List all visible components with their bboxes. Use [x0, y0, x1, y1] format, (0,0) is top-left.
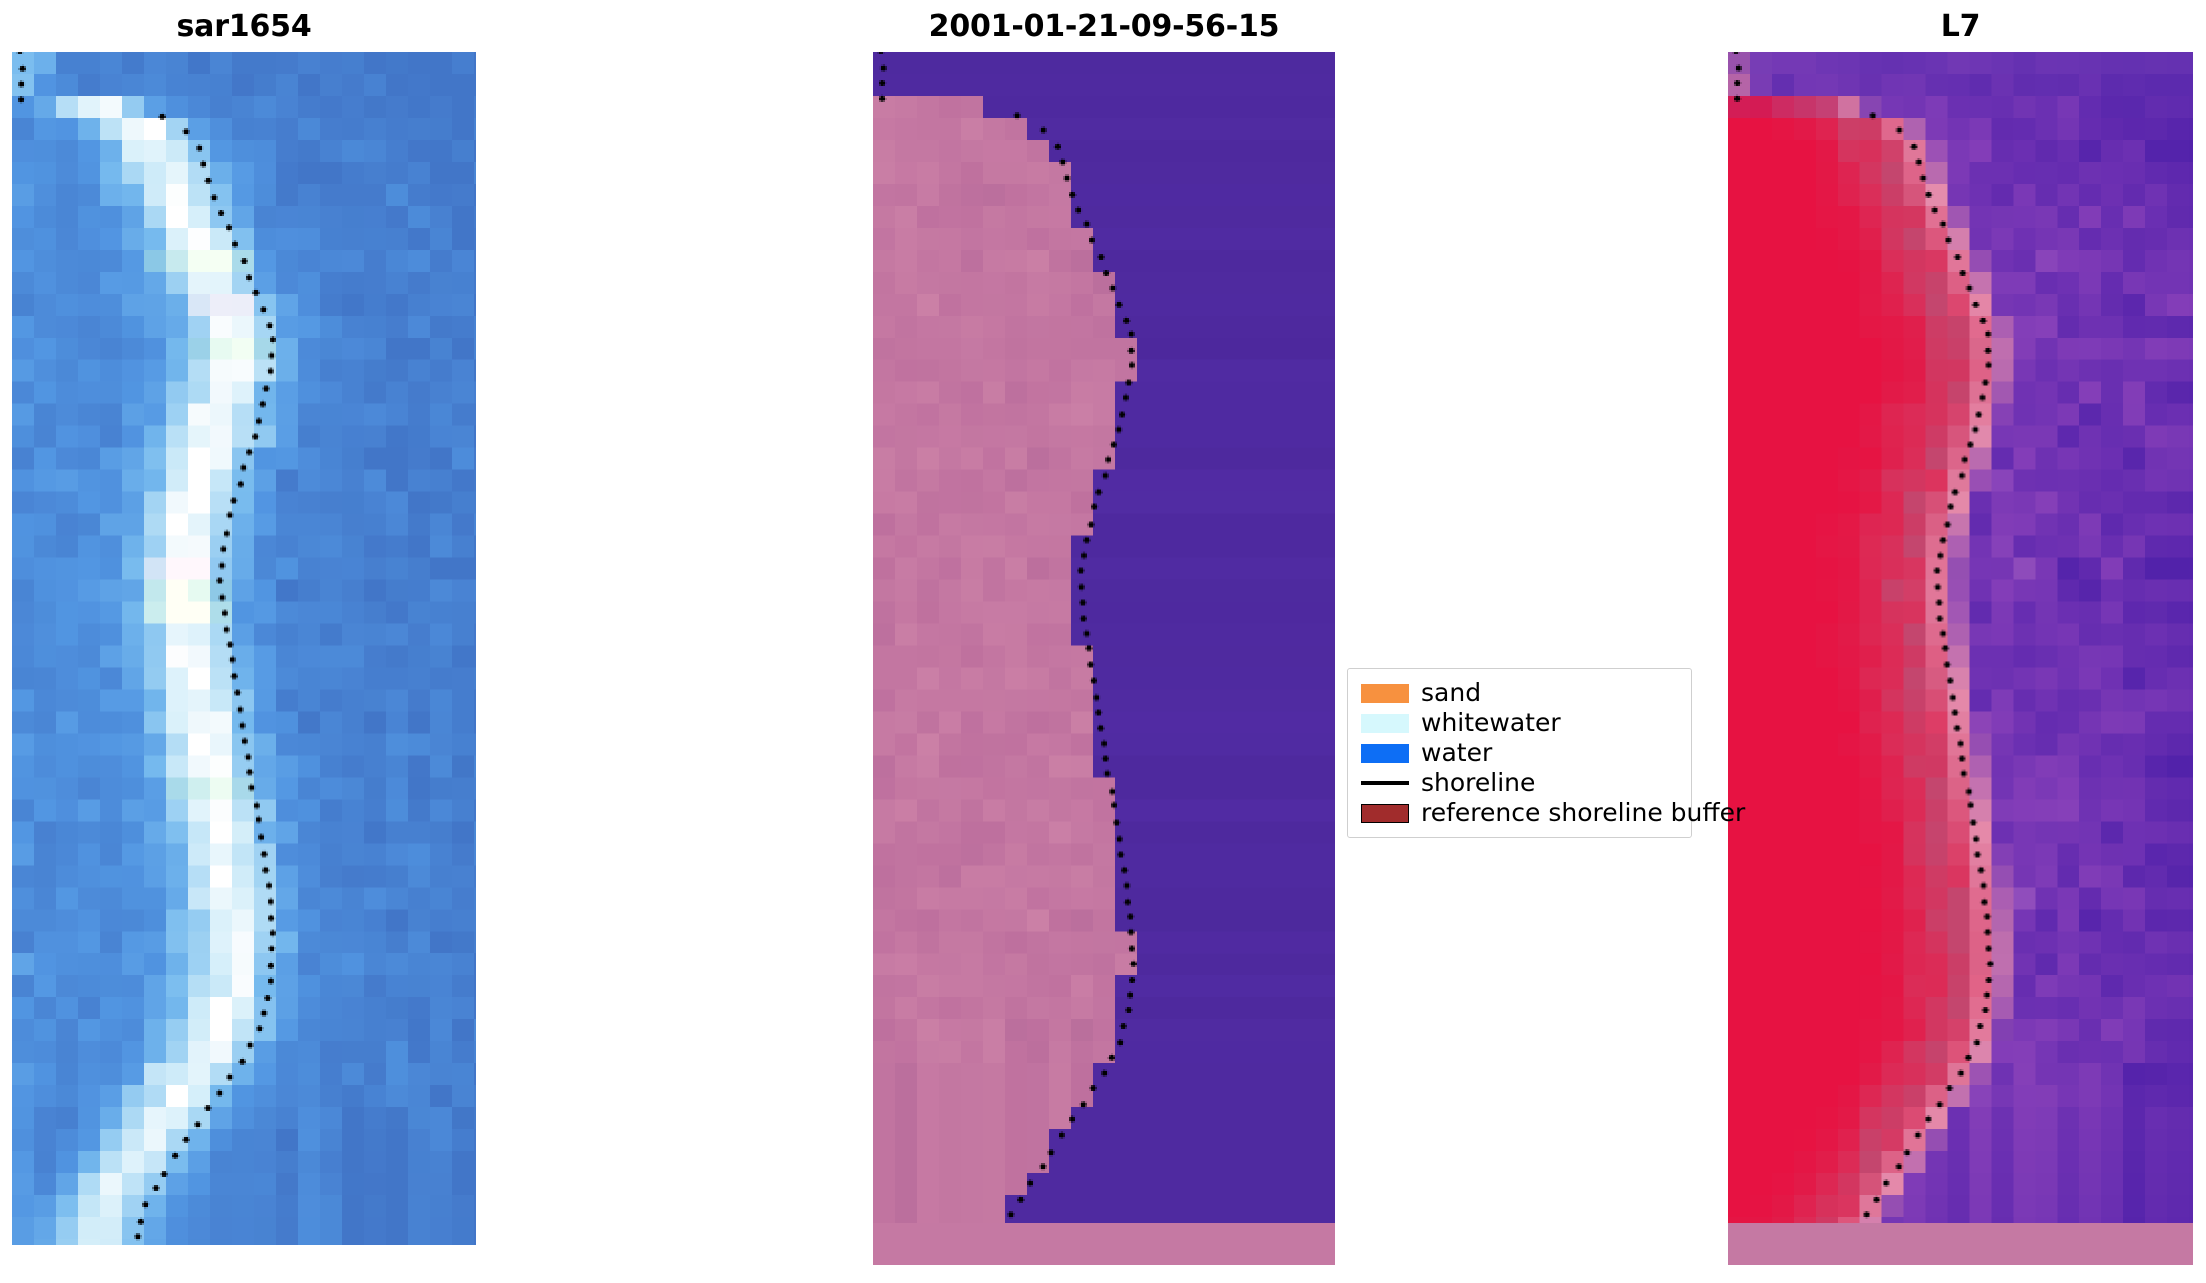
legend-box: sand whitewater water shoreline referenc	[1347, 668, 1692, 838]
legend-item-whitewater[interactable]: whitewater	[1358, 708, 1680, 738]
legend-swatch-whitewater-icon	[1358, 708, 1411, 738]
legend-label-water: water	[1421, 738, 1492, 768]
figure-canvas: sar1654 2001-01-21-09-56-15 L7 sand whit…	[0, 0, 2206, 1283]
sar-image-canvas	[12, 52, 476, 1245]
legend-label-whitewater: whitewater	[1421, 708, 1561, 738]
legend-label-shoreline: shoreline	[1421, 768, 1535, 798]
legend-swatch-water-icon	[1358, 738, 1411, 768]
panel-title-rgb: 2001-01-21-09-56-15	[873, 5, 1335, 49]
legend-item-sand[interactable]: sand	[1358, 678, 1680, 708]
legend-label-reference-buffer: reference shoreline buffer	[1421, 798, 1745, 828]
legend-swatch-reference-buffer-icon	[1358, 798, 1411, 828]
panel-title-l7: L7	[1728, 5, 2193, 49]
panel-image-rgb[interactable]	[873, 52, 1335, 1265]
panel-image-l7[interactable]	[1728, 52, 2193, 1265]
legend-label-sand: sand	[1421, 678, 1481, 708]
legend-item-water[interactable]: water	[1358, 738, 1680, 768]
panel-image-sar[interactable]	[12, 52, 476, 1245]
legend-line-shoreline-icon	[1358, 768, 1411, 798]
legend-item-shoreline[interactable]: shoreline	[1358, 768, 1680, 798]
l7-image-canvas	[1728, 52, 2193, 1265]
panel-title-sar: sar1654	[12, 5, 476, 49]
rgb-image-canvas	[873, 52, 1335, 1265]
legend-swatch-sand-icon	[1358, 678, 1411, 708]
legend-item-reference-buffer[interactable]: reference shoreline buffer	[1358, 798, 1680, 828]
